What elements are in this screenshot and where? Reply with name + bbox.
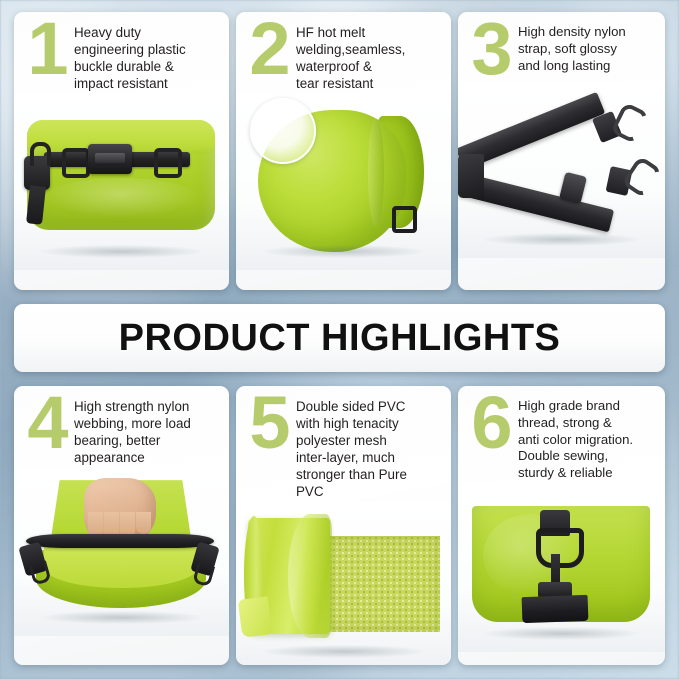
banner-title: PRODUCT HIGHLIGHTS: [119, 317, 561, 360]
feature-card-6-head: 6 High grade brand thread, strong & anti…: [458, 386, 665, 482]
feature-number-6: 6: [464, 392, 518, 454]
product-shadow-4: [40, 611, 203, 624]
bag-interior: [44, 546, 198, 588]
feature-photo-5: [236, 502, 451, 665]
infographic-layout: 1 Heavy duty engineering plastic buckle …: [0, 0, 679, 679]
pvc-roll-curl: [288, 514, 332, 638]
feature-text-4: High strength nylon webbing, more load b…: [74, 395, 221, 466]
photo-backdrop-6: [458, 484, 665, 652]
feature-text-6: High grade brand thread, strong & anti c…: [518, 395, 657, 482]
photo-backdrop-3: [458, 82, 665, 258]
welded-seam-line: [368, 118, 384, 226]
shoulder-strap-fold: [458, 154, 484, 198]
strap-ring-right: [154, 148, 182, 178]
feature-card-3-head: 3 High density nylon strap, soft glossy …: [458, 12, 665, 80]
feature-text-5: Double sided PVC with high tenacity poly…: [296, 395, 443, 500]
feature-photo-1: [14, 94, 229, 270]
product-shadow-2: [262, 245, 425, 258]
feature-photo-2: [236, 94, 451, 270]
feature-number-2: 2: [242, 18, 296, 80]
feature-number-4: 4: [20, 392, 74, 454]
photo-backdrop-4: [14, 468, 229, 636]
feature-card-2-head: 2 HF hot melt welding,seamless, waterpro…: [236, 12, 451, 92]
pvc-roll-tip: [238, 596, 272, 637]
product-shadow-3: [483, 233, 640, 246]
photo-backdrop-1: [14, 94, 229, 270]
side-clip-hardware: [24, 156, 50, 190]
nylon-webbing-handle: [26, 534, 214, 548]
bag-d-ring: [392, 206, 417, 233]
feature-card-2[interactable]: 2 HF hot melt welding,seamless, waterpro…: [236, 12, 451, 290]
strap-length-adjuster: [559, 172, 587, 204]
feature-photo-6: [458, 484, 665, 652]
feature-number-5: 5: [242, 392, 296, 454]
photo-backdrop-2: [236, 94, 451, 270]
feature-card-5[interactable]: 5 Double sided PVC with high tenacity po…: [236, 386, 451, 665]
photo-backdrop-5: [236, 502, 451, 665]
feature-text-3: High density nylon strap, soft glossy an…: [518, 21, 657, 74]
feature-card-4[interactable]: 4 High strength nylon webbing, more load…: [14, 386, 229, 665]
polyester-mesh-weave: [320, 536, 440, 632]
feature-photo-3: [458, 82, 665, 258]
sewn-webbing-strip: [522, 595, 589, 623]
d-ring-hardware: [536, 528, 584, 568]
feature-text-1: Heavy duty engineering plastic buckle du…: [74, 21, 221, 92]
feature-card-5-head: 5 Double sided PVC with high tenacity po…: [236, 386, 451, 500]
feature-text-2: HF hot melt welding,seamless, waterproof…: [296, 21, 443, 92]
plastic-buckle: [88, 144, 132, 174]
finger-4: [136, 512, 151, 534]
feature-card-3[interactable]: 3 High density nylon strap, soft glossy …: [458, 12, 665, 290]
feature-card-6[interactable]: 6 High grade brand thread, strong & anti…: [458, 386, 665, 665]
feature-photo-4: [14, 468, 229, 636]
feature-card-1[interactable]: 1 Heavy duty engineering plastic buckle …: [14, 12, 229, 290]
feature-card-4-head: 4 High strength nylon webbing, more load…: [14, 386, 229, 466]
feature-number-3: 3: [464, 18, 518, 80]
feature-number-1: 1: [20, 18, 74, 80]
dry-bag-image: [27, 120, 215, 230]
strap-ring-left: [62, 148, 90, 178]
product-shadow-1: [40, 245, 203, 258]
product-highlights-banner: PRODUCT HIGHLIGHTS: [14, 304, 665, 372]
product-shadow-5: [262, 645, 425, 658]
magnifier-callout-icon: [250, 98, 316, 164]
feature-card-1-head: 1 Heavy duty engineering plastic buckle …: [14, 12, 229, 92]
swivel-hook-upper: [610, 102, 650, 145]
product-shadow-6: [483, 627, 640, 640]
